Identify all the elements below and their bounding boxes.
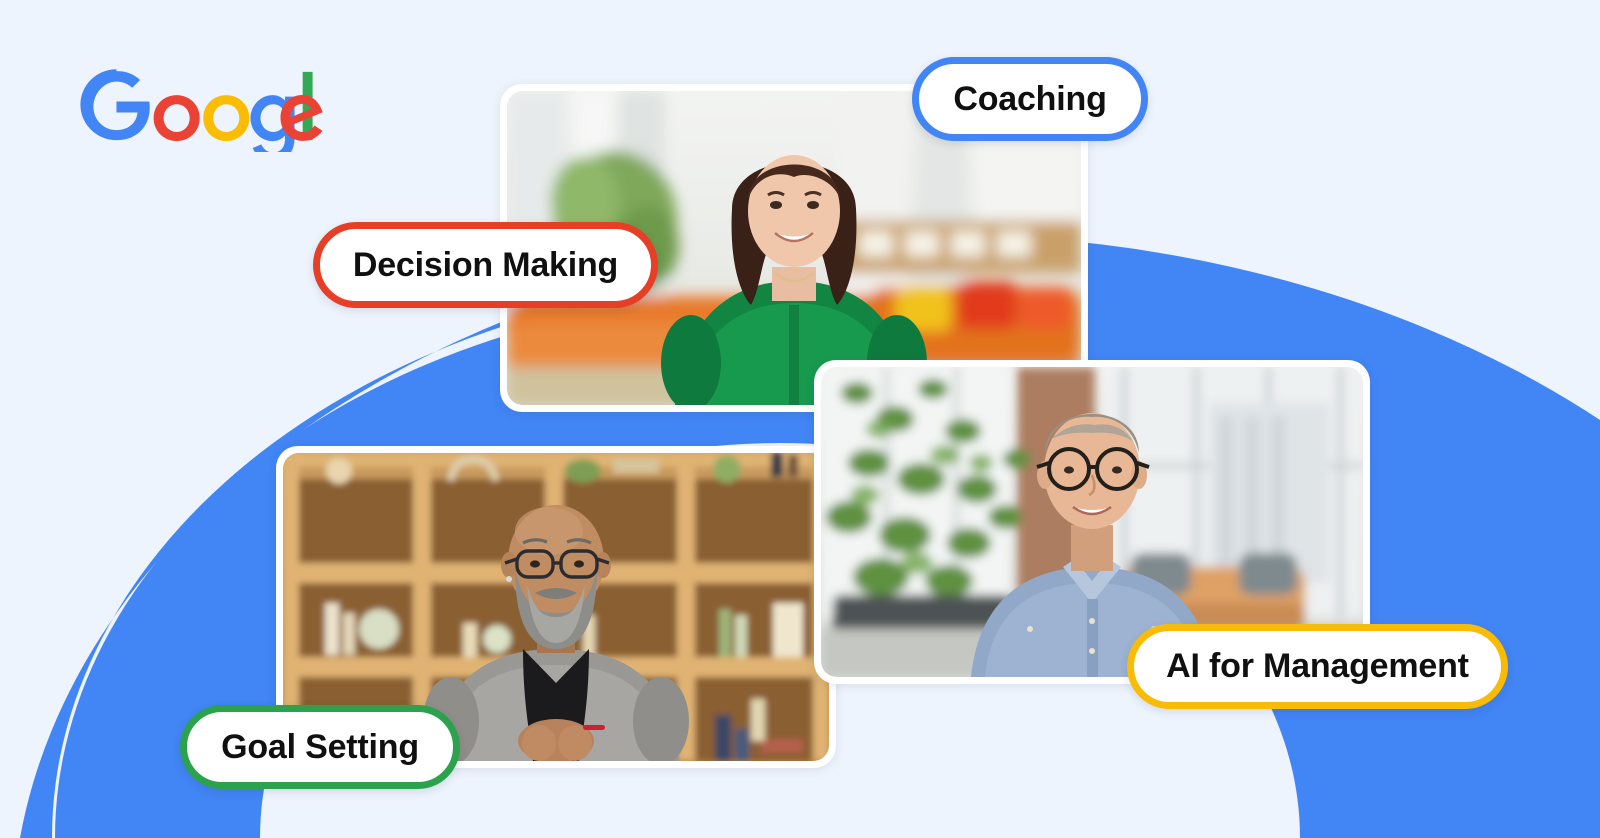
- topic-pill-goal-setting[interactable]: Goal Setting: [180, 705, 460, 789]
- topic-pill-ai-for-management[interactable]: AI for Management: [1127, 624, 1508, 709]
- promo-banner: Coaching Decision Making Goal Setting AI…: [0, 0, 1600, 838]
- topic-pill-decision-making[interactable]: Decision Making: [313, 222, 658, 308]
- logo-letter-e: [280, 95, 322, 141]
- google-logo: [70, 62, 330, 152]
- logo-letter-o-yellow: [203, 95, 249, 141]
- logo-letter-G: [80, 69, 149, 140]
- topic-pill-coaching[interactable]: Coaching: [912, 57, 1148, 141]
- logo-letter-o-red: [154, 95, 200, 141]
